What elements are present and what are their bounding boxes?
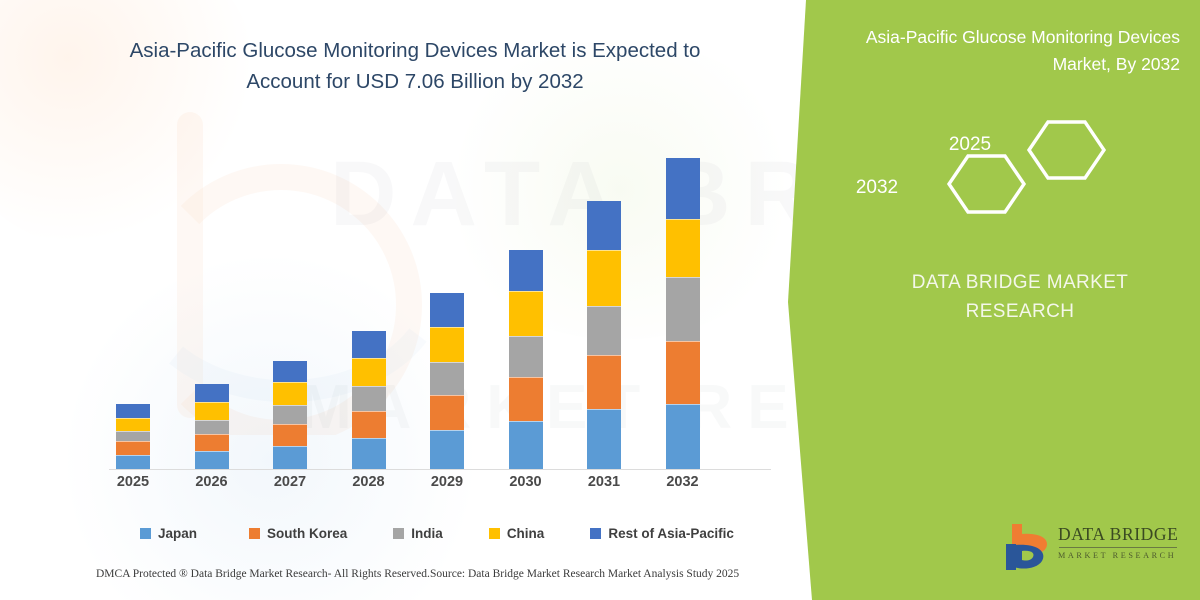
legend-item-japan[interactable]: Japan [140, 526, 197, 541]
bar-segment-china[interactable] [587, 250, 621, 306]
hexagon-2032-shape [949, 156, 1024, 212]
legend-label: Japan [158, 526, 197, 541]
panel-brand-text: DATA BRIDGE MARKET RESEARCH [870, 268, 1170, 327]
legend-item-rest-of-asia-pacific[interactable]: Rest of Asia-Pacific [590, 526, 734, 541]
legend-label: India [411, 526, 443, 541]
page-title: Asia-Pacific Glucose Monitoring Devices … [95, 36, 735, 98]
bar-segment-south-korea[interactable] [116, 441, 150, 455]
hexagon-2032-label: 2032 [842, 177, 912, 199]
chart-legend: JapanSouth KoreaIndiaChinaRest of Asia-P… [140, 522, 760, 544]
bar-segment-rest-of-asia-pacific[interactable] [195, 384, 229, 402]
chart-plot-area [95, 140, 775, 469]
footer-copyright: DMCA Protected ® Data Bridge Market Rese… [96, 568, 430, 580]
data-bridge-logo: DATA BRIDGE MARKET RESEARCH [1000, 520, 1182, 576]
bar-segment-rest-of-asia-pacific[interactable] [116, 404, 150, 418]
hexagon-2025-label: 2025 [935, 134, 1005, 156]
bar-segment-china[interactable] [509, 291, 543, 336]
panel-content: Asia-Pacific Glucose Monitoring Devices … [840, 0, 1200, 600]
bar-segment-rest-of-asia-pacific[interactable] [509, 250, 543, 291]
bar-group-2027[interactable] [273, 361, 307, 469]
legend-swatch-icon [489, 528, 500, 539]
legend-swatch-icon [140, 528, 151, 539]
bar-segment-japan[interactable] [666, 404, 700, 469]
logo-b-mark-icon [1000, 522, 1054, 572]
bar-group-2029[interactable] [430, 293, 464, 469]
logo-text-block: DATA BRIDGE MARKET RESEARCH [1058, 524, 1182, 560]
hexagon-shapes [930, 118, 1120, 218]
x-axis-line [109, 469, 771, 470]
bar-segment-japan[interactable] [587, 409, 621, 470]
bar-segment-rest-of-asia-pacific[interactable] [430, 293, 464, 327]
legend-label: South Korea [267, 526, 347, 541]
bar-segment-south-korea[interactable] [587, 355, 621, 409]
bar-segment-china[interactable] [666, 219, 700, 278]
bar-group-2026[interactable] [195, 384, 229, 469]
bar-segment-south-korea[interactable] [352, 411, 386, 438]
logo-sub-text: MARKET RESEARCH [1058, 551, 1182, 560]
x-axis-label-2027: 2027 [255, 474, 325, 490]
bar-segment-south-korea[interactable] [509, 377, 543, 421]
x-axis-label-2030: 2030 [491, 474, 561, 490]
bar-group-2025[interactable] [116, 404, 150, 469]
logo-divider [1059, 547, 1177, 548]
legend-swatch-icon [590, 528, 601, 539]
x-axis-label-2032: 2032 [648, 474, 718, 490]
bar-segment-india[interactable] [509, 336, 543, 377]
x-axis-label-2026: 2026 [177, 474, 247, 490]
bar-segment-china[interactable] [116, 418, 150, 431]
hexagon-badges [930, 118, 1120, 218]
bar-segment-rest-of-asia-pacific[interactable] [587, 201, 621, 250]
footer-source: Source: Data Bridge Market Research Mark… [430, 568, 739, 580]
bar-segment-rest-of-asia-pacific[interactable] [666, 158, 700, 219]
bar-group-2030[interactable] [509, 250, 543, 469]
bar-segment-japan[interactable] [116, 455, 150, 469]
x-axis-labels: 20252026202720282029203020312032 [95, 474, 775, 496]
bar-segment-japan[interactable] [352, 438, 386, 469]
bar-segment-rest-of-asia-pacific[interactable] [352, 331, 386, 358]
bar-segment-india[interactable] [273, 405, 307, 425]
bar-segment-japan[interactable] [509, 421, 543, 469]
logo-main-text: DATA BRIDGE [1058, 524, 1182, 545]
bar-segment-china[interactable] [430, 327, 464, 362]
bar-segment-japan[interactable] [430, 430, 464, 469]
bar-segment-china[interactable] [195, 402, 229, 420]
x-axis-label-2025: 2025 [98, 474, 168, 490]
bar-segment-china[interactable] [273, 382, 307, 404]
bar-segment-south-korea[interactable] [195, 434, 229, 452]
legend-swatch-icon [393, 528, 404, 539]
bar-segment-india[interactable] [352, 386, 386, 411]
legend-item-china[interactable]: China [489, 526, 545, 541]
bar-group-2028[interactable] [352, 331, 386, 469]
bar-segment-china[interactable] [352, 358, 386, 386]
bar-segment-south-korea[interactable] [666, 341, 700, 404]
bar-segment-india[interactable] [116, 431, 150, 441]
bar-segment-japan[interactable] [273, 446, 307, 469]
x-axis-label-2031: 2031 [569, 474, 639, 490]
bar-segment-india[interactable] [430, 362, 464, 396]
legend-label: Rest of Asia-Pacific [608, 526, 734, 541]
bar-segment-india[interactable] [587, 306, 621, 354]
legend-label: China [507, 526, 545, 541]
legend-swatch-icon [249, 528, 260, 539]
hexagon-2025-shape [1029, 122, 1104, 178]
bar-segment-rest-of-asia-pacific[interactable] [273, 361, 307, 382]
bar-group-2031[interactable] [587, 201, 621, 469]
stacked-bar-chart [95, 140, 775, 470]
bar-segment-south-korea[interactable] [273, 424, 307, 445]
panel-title: Asia-Pacific Glucose Monitoring Devices … [860, 24, 1180, 77]
bar-group-2032[interactable] [666, 158, 700, 469]
x-axis-label-2028: 2028 [334, 474, 404, 490]
bar-segment-south-korea[interactable] [430, 395, 464, 429]
bar-segment-japan[interactable] [195, 451, 229, 469]
bar-segment-india[interactable] [195, 420, 229, 434]
bar-segment-india[interactable] [666, 277, 700, 340]
infographic-canvas: DATA BRIDGE MARKET RESEARCH Asia-Pacific… [0, 0, 1200, 600]
legend-item-south-korea[interactable]: South Korea [249, 526, 347, 541]
x-axis-label-2029: 2029 [412, 474, 482, 490]
legend-item-india[interactable]: India [393, 526, 443, 541]
